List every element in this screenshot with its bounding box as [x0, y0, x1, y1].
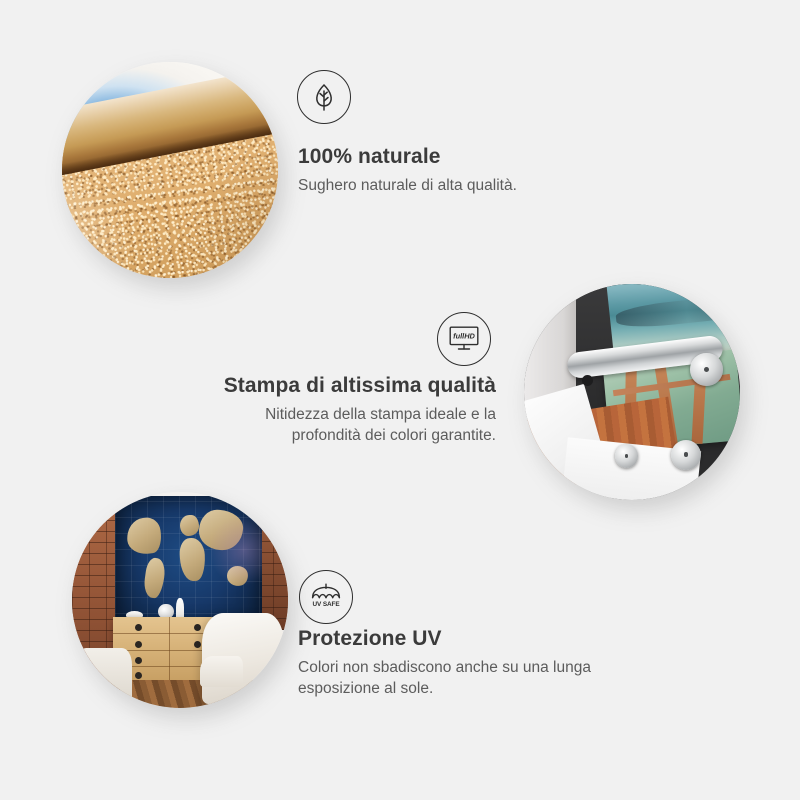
room-photo-brick-wall-right: [258, 492, 288, 630]
feature-description-uv-protection-line-2: esposizione al sole.: [298, 679, 668, 700]
feature-description-print-quality-line-1: Nitidezza della stampa ideale e la: [190, 405, 496, 426]
room-photo-armchair-right: [202, 613, 284, 704]
cork-photo-layers: [62, 62, 278, 278]
feature-description-print-quality-line-2: profondità dei colori garantite.: [190, 426, 496, 447]
printer-photo-layers: [524, 284, 740, 500]
uv-safe-umbrella-icon: UV SAFE: [299, 570, 353, 624]
dresser-knob: [135, 624, 142, 631]
dresser-knob: [194, 624, 201, 631]
room-photo-world-map-mural: [115, 496, 262, 630]
printer-photo-bolt: [582, 375, 593, 386]
dresser-knob: [135, 641, 142, 648]
printer-photo-roller-knob: [671, 440, 701, 470]
fullhd-icon-label: fullHD: [453, 331, 475, 340]
world-map-mural-room-photo: [72, 492, 288, 708]
room-photo-layers: [72, 492, 288, 708]
dresser-knob: [194, 641, 201, 648]
printing-machine-photo: [524, 284, 740, 500]
feature-highlights-panel: 100% naturale Sughero naturale di alta q…: [0, 0, 800, 800]
feature-description-natural: Sughero naturale di alta qualità.: [298, 176, 517, 197]
printer-photo-roller-knob: [690, 353, 722, 385]
feature-text-uv-protection: Protezione UV Colori non sbadiscono anch…: [298, 627, 668, 700]
dresser-knob: [135, 672, 142, 679]
feature-title-uv-protection: Protezione UV: [298, 627, 668, 651]
cork-board-texture-photo: [62, 62, 278, 278]
feature-title-print-quality: Stampa di altissima qualità: [190, 374, 496, 398]
map-light-glow: [211, 510, 262, 590]
dresser-knob: [135, 657, 142, 664]
uv-safe-icon-label: UV SAFE: [313, 601, 341, 608]
armchair-armrest: [200, 656, 243, 687]
feature-text-print-quality: Stampa di altissima qualità Nitidezza de…: [190, 374, 496, 447]
feature-description-uv-protection-line-1: Colori non sbadiscono anche su una lunga: [298, 658, 668, 679]
printer-photo-roller-knob: [615, 444, 639, 468]
feature-text-natural: 100% naturale Sughero naturale di alta q…: [298, 145, 517, 197]
leaf-icon: [297, 70, 351, 124]
room-photo-armchair-left: [76, 648, 132, 704]
dresser-center-divider: [169, 617, 170, 682]
feature-title-natural: 100% naturale: [298, 145, 517, 169]
fullhd-monitor-icon: fullHD: [437, 312, 491, 366]
